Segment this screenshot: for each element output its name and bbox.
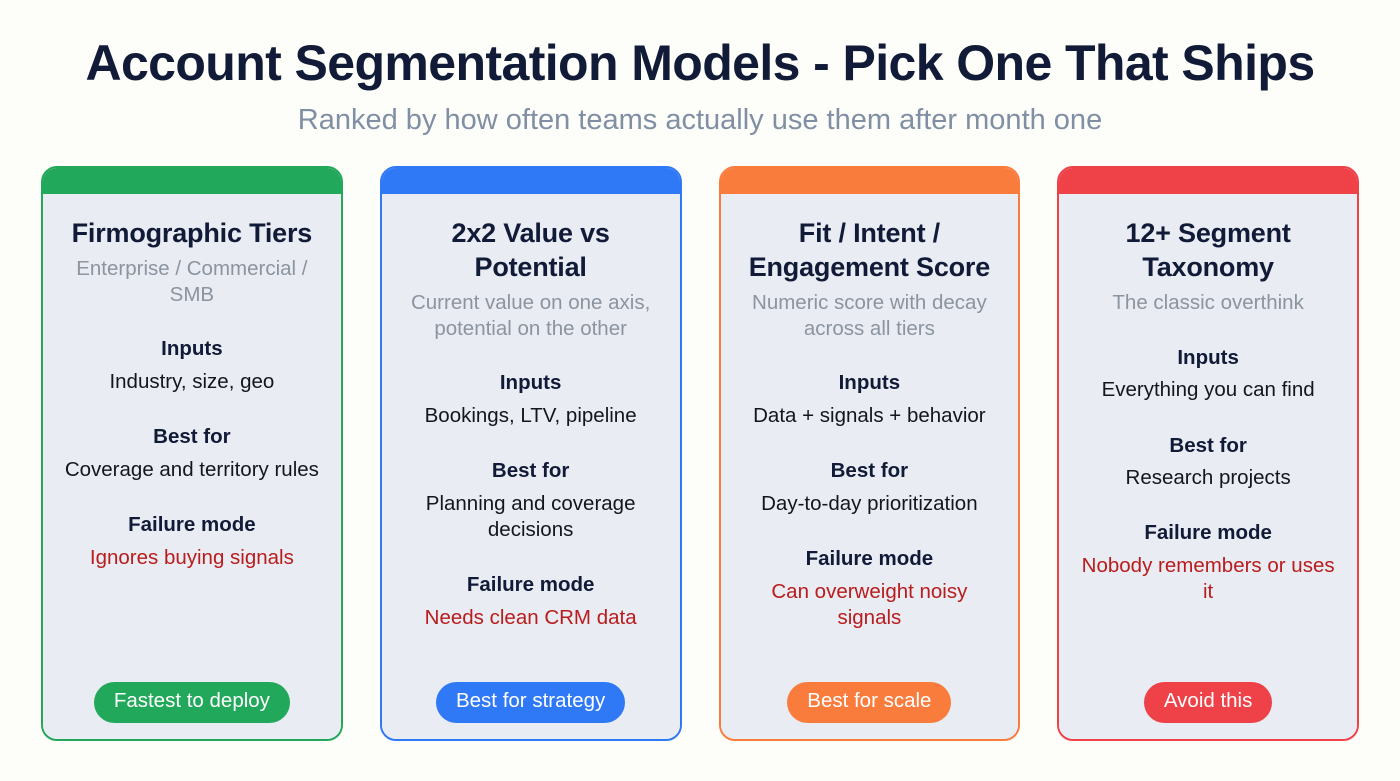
badge-wrap: Fastest to deploy <box>94 662 290 723</box>
section-failure-mode: Failure mode Ignores buying signals <box>90 512 294 571</box>
section-inputs: Inputs Industry, size, geo <box>109 336 274 395</box>
card-title: 12+ Segment Taxonomy <box>1079 216 1337 284</box>
card-badge[interactable]: Best for strategy <box>436 682 625 723</box>
card-badge[interactable]: Avoid this <box>1144 682 1273 723</box>
section-label-failure-mode: Failure mode <box>90 512 294 539</box>
section-label-inputs: Inputs <box>425 370 637 397</box>
card-title: Firmographic Tiers <box>72 216 312 250</box>
section-value-best-for: Day-to-day prioritization <box>761 491 977 517</box>
section-value-best-for: Research projects <box>1126 465 1291 491</box>
card-body: 12+ Segment Taxonomy The classic overthi… <box>1059 194 1357 739</box>
card-tagline: Current value on one axis, potential on … <box>402 290 660 342</box>
badge-wrap: Best for strategy <box>436 662 625 723</box>
section-inputs: Inputs Data + signals + behavior <box>753 370 985 429</box>
cards-row: Firmographic Tiers Enterprise / Commerci… <box>0 166 1400 741</box>
section-value-best-for: Coverage and territory rules <box>65 457 319 483</box>
page-title: Account Segmentation Models - Pick One T… <box>0 34 1400 93</box>
section-value-failure-mode: Nobody remembers or uses it <box>1079 553 1337 605</box>
section-failure-mode: Failure mode Can overweight noisy signal… <box>741 546 999 631</box>
page-subtitle: Ranked by how often teams actually use t… <box>0 103 1400 138</box>
card-badge[interactable]: Best for scale <box>787 682 951 723</box>
card-tagline: Numeric score with decay across all tier… <box>741 290 999 342</box>
section-label-best-for: Best for <box>761 458 977 485</box>
section-best-for: Best for Research projects <box>1126 433 1291 492</box>
section-value-inputs: Data + signals + behavior <box>753 403 985 429</box>
section-value-best-for: Planning and coverage decisions <box>402 491 660 543</box>
section-best-for: Best for Coverage and territory rules <box>65 424 319 483</box>
card-badge[interactable]: Fastest to deploy <box>94 682 290 723</box>
card-body: Firmographic Tiers Enterprise / Commerci… <box>43 194 341 739</box>
section-label-best-for: Best for <box>402 458 660 485</box>
badge-wrap: Best for scale <box>787 662 951 723</box>
section-label-inputs: Inputs <box>1102 345 1315 372</box>
section-failure-mode: Failure mode Nobody remembers or uses it <box>1079 520 1337 605</box>
card-accent-bar <box>1059 168 1357 194</box>
section-value-failure-mode: Can overweight noisy signals <box>741 579 999 631</box>
section-label-failure-mode: Failure mode <box>741 546 999 573</box>
section-inputs: Inputs Bookings, LTV, pipeline <box>425 370 637 429</box>
section-inputs: Inputs Everything you can find <box>1102 345 1315 404</box>
section-label-inputs: Inputs <box>109 336 274 363</box>
section-label-inputs: Inputs <box>753 370 985 397</box>
section-failure-mode: Failure mode Needs clean CRM data <box>425 572 637 631</box>
card-accent-bar <box>382 168 680 194</box>
card-12-plus-segment-taxonomy[interactable]: 12+ Segment Taxonomy The classic overthi… <box>1057 166 1359 741</box>
card-2x2-value-vs-potential[interactable]: 2x2 Value vs Potential Current value on … <box>380 166 682 741</box>
header: Account Segmentation Models - Pick One T… <box>0 0 1400 138</box>
card-body: Fit / Intent / Engagement Score Numeric … <box>721 194 1019 739</box>
card-accent-bar <box>43 168 341 194</box>
section-value-inputs: Everything you can find <box>1102 377 1315 403</box>
section-value-failure-mode: Ignores buying signals <box>90 545 294 571</box>
card-firmographic-tiers[interactable]: Firmographic Tiers Enterprise / Commerci… <box>41 166 343 741</box>
card-title: 2x2 Value vs Potential <box>402 216 660 284</box>
section-best-for: Best for Day-to-day prioritization <box>761 458 977 517</box>
section-label-best-for: Best for <box>65 424 319 451</box>
card-tagline: Enterprise / Commercial / SMB <box>63 256 321 308</box>
section-best-for: Best for Planning and coverage decisions <box>402 458 660 543</box>
card-body: 2x2 Value vs Potential Current value on … <box>382 194 680 739</box>
card-title: Fit / Intent / Engagement Score <box>741 216 999 284</box>
section-value-inputs: Industry, size, geo <box>109 369 274 395</box>
section-label-failure-mode: Failure mode <box>425 572 637 599</box>
infographic-page: Account Segmentation Models - Pick One T… <box>0 0 1400 781</box>
section-value-inputs: Bookings, LTV, pipeline <box>425 403 637 429</box>
section-value-failure-mode: Needs clean CRM data <box>425 605 637 631</box>
card-tagline: The classic overthink <box>1112 290 1303 316</box>
section-label-best-for: Best for <box>1126 433 1291 460</box>
badge-wrap: Avoid this <box>1144 662 1273 723</box>
card-fit-intent-engagement-score[interactable]: Fit / Intent / Engagement Score Numeric … <box>719 166 1021 741</box>
card-accent-bar <box>721 168 1019 194</box>
section-label-failure-mode: Failure mode <box>1079 520 1337 547</box>
